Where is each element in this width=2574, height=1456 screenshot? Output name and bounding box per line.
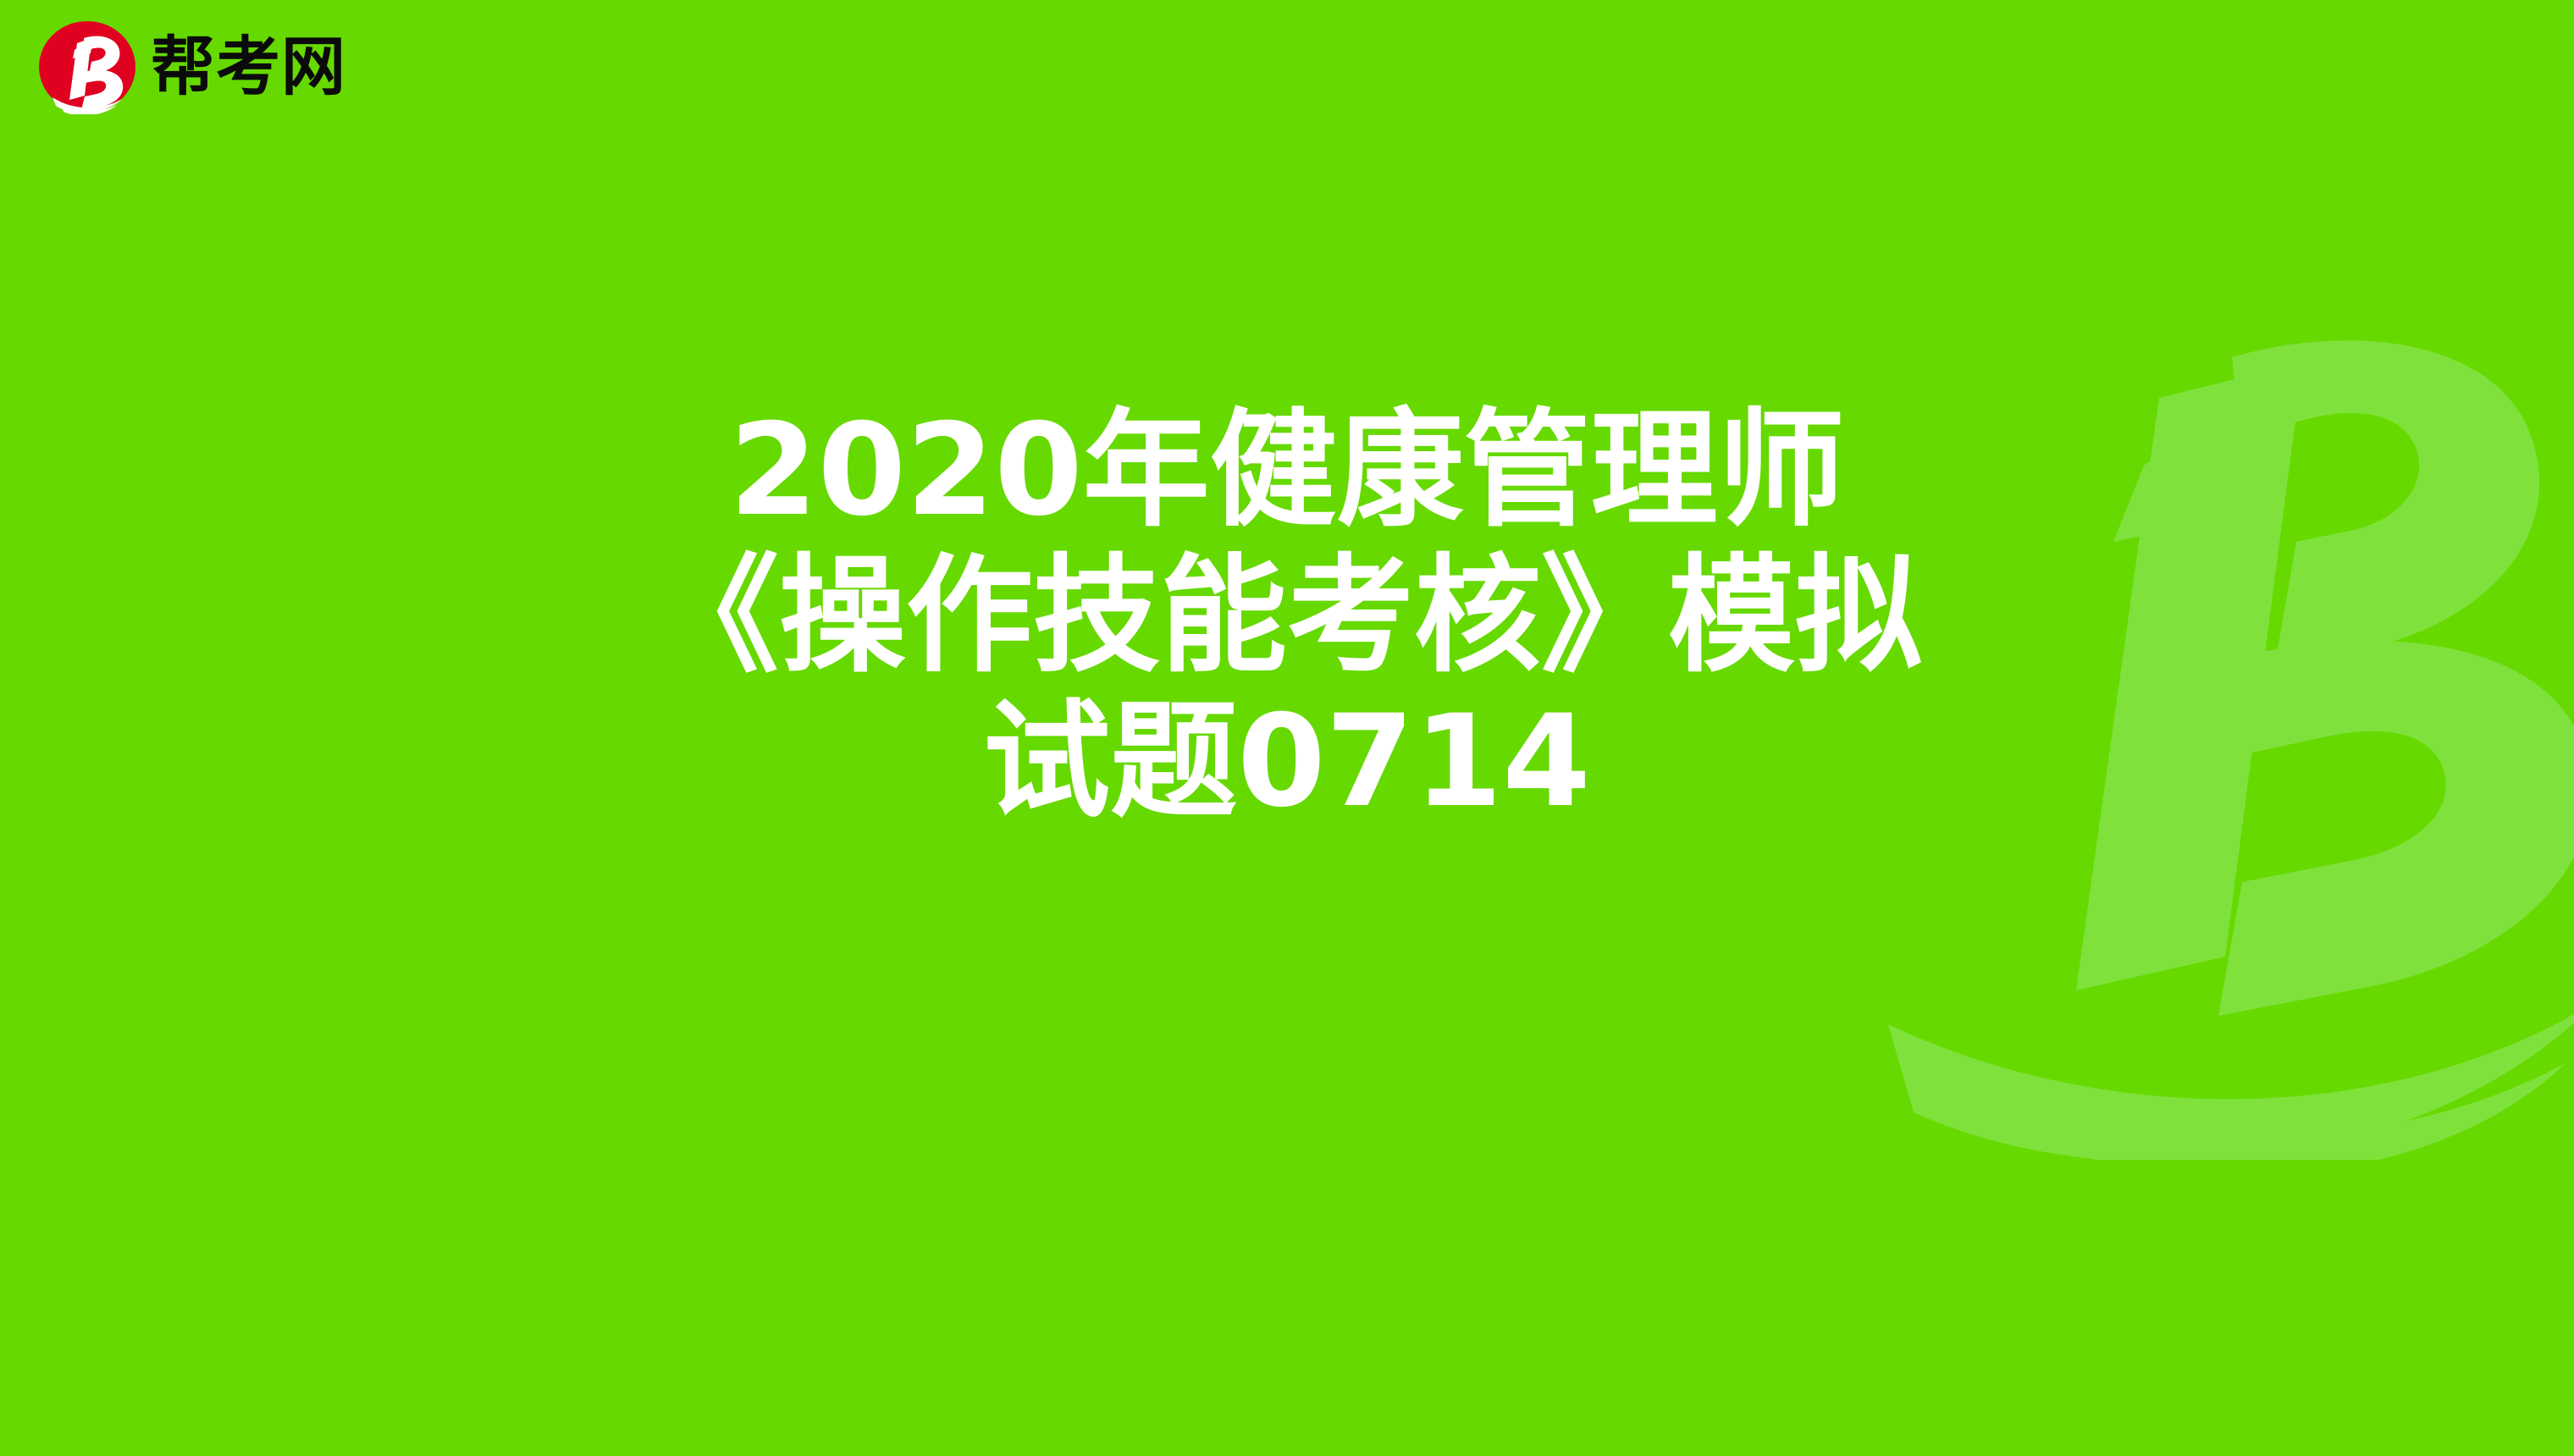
poster-canvas: 帮考网 2020年健康管理师 《操作技能考核》模拟 试题0714 [0, 0, 2574, 1456]
page-title-line-3: 试题0714 [0, 689, 2574, 835]
page-title-line-2: 《操作技能考核》模拟 [0, 543, 2574, 689]
page-title: 2020年健康管理师 《操作技能考核》模拟 试题0714 [0, 398, 2574, 835]
brand-logo[interactable]: 帮考网 [37, 20, 346, 113]
bangkao-b-logo-icon [37, 19, 137, 114]
brand-wordmark: 帮考网 [151, 35, 346, 99]
page-title-line-1: 2020年健康管理师 [0, 398, 2574, 543]
